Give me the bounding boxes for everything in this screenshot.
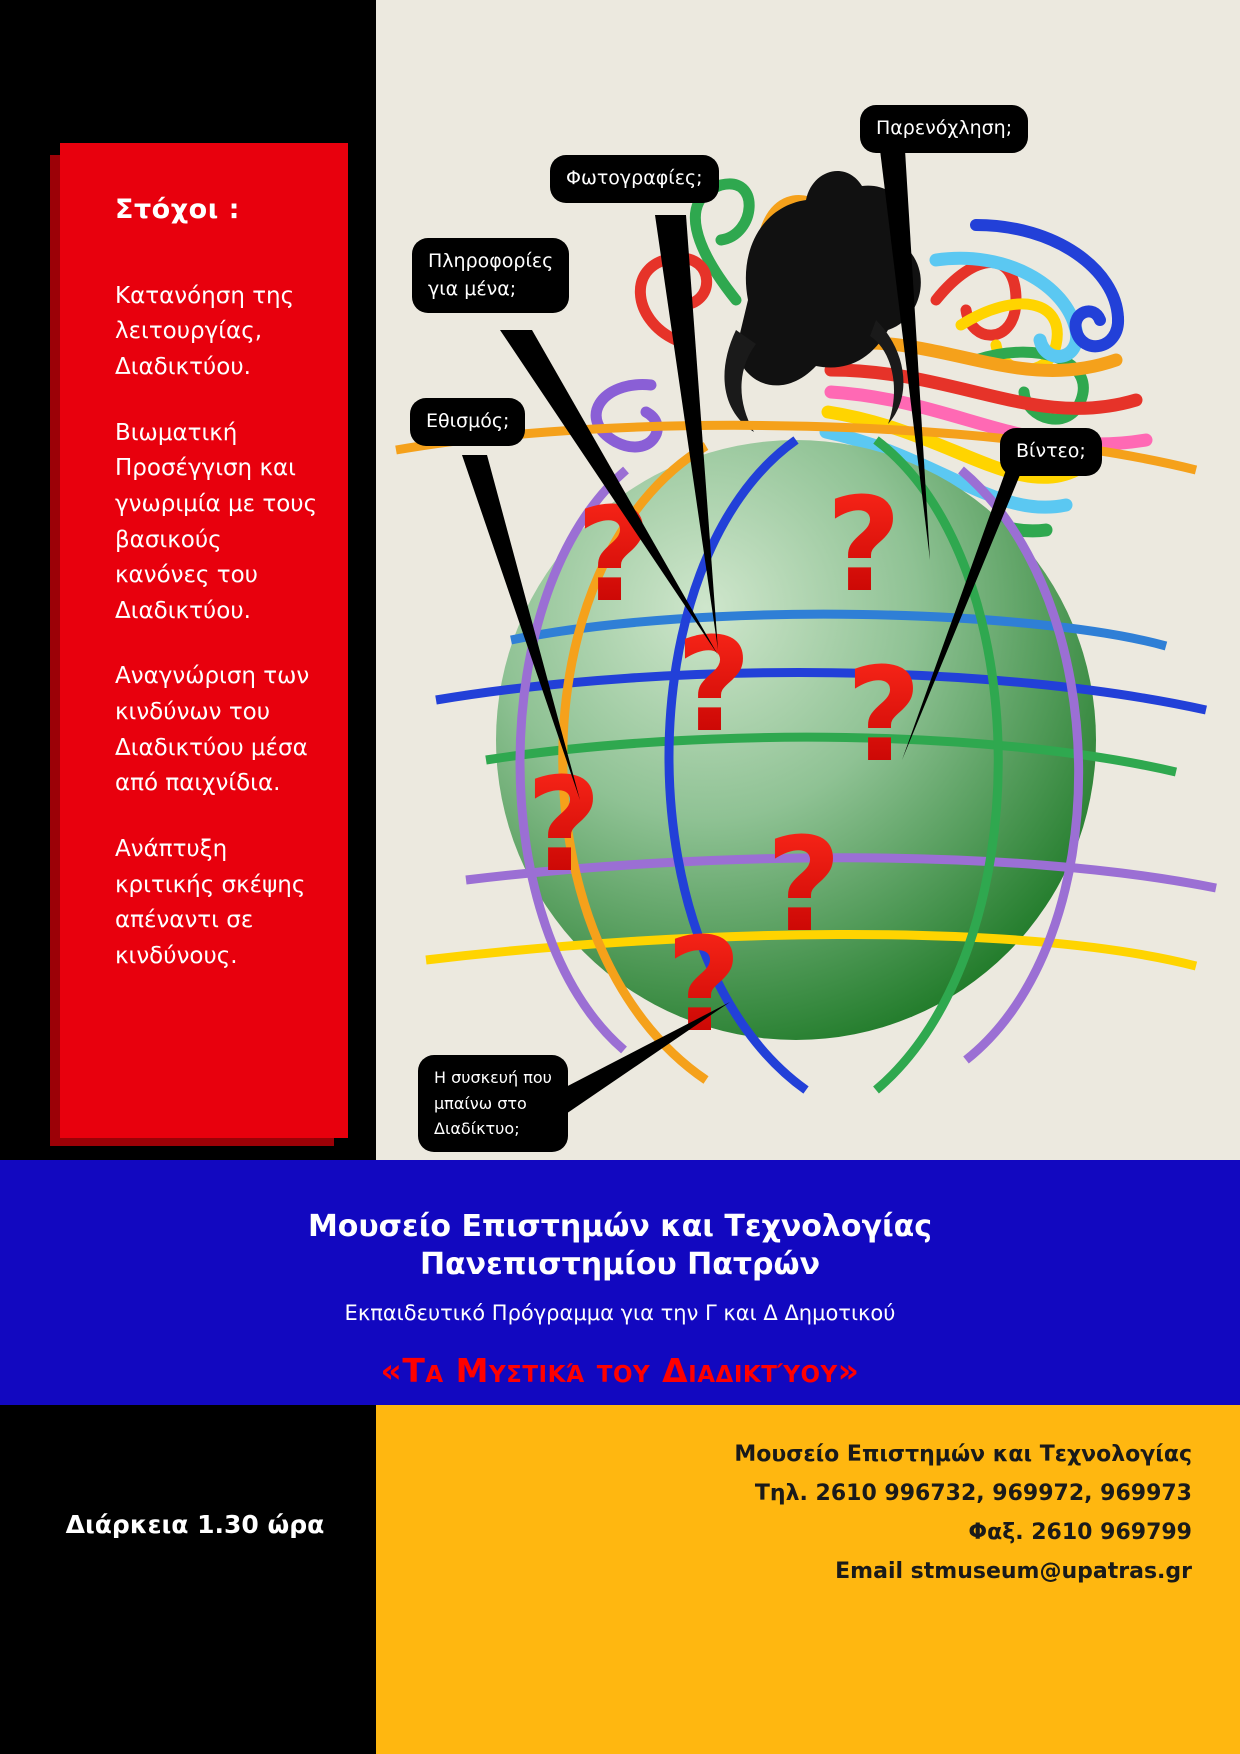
contact-line-museum: Μουσείο Επιστημών και Τεχνολογίας — [734, 1435, 1192, 1474]
program-subtitle: Εκπαιδευτικό Πρόγραμμα για την Γ και Δ Δ… — [0, 1301, 1240, 1325]
pointer-syskevi — [560, 1002, 730, 1118]
contact-line-phone: Τηλ. 2610 996732, 969972, 969973 — [734, 1474, 1192, 1513]
contact-panel: Μουσείο Επιστημών και Τεχνολογίας Τηλ. 2… — [376, 1405, 1240, 1754]
pointer-fotografies — [655, 215, 718, 650]
contact-line-email[interactable]: Email stmuseum@upatras.gr — [734, 1552, 1192, 1591]
poster: ? ? ? ? ? ? ? Παρενόχληση; Φωτογραφίες; … — [0, 0, 1240, 1754]
contact-block: Μουσείο Επιστημών και Τεχνολογίας Τηλ. 2… — [734, 1435, 1192, 1592]
organisation-line-2: Πανεπιστημίου Πατρών — [0, 1246, 1240, 1284]
duration-text: Διάρκεια 1.30 ώρα — [30, 1510, 360, 1539]
pointer-vinteo — [902, 470, 1022, 760]
bubble-parenochlisi[interactable]: Παρενόχληση; — [860, 105, 1028, 153]
organisation-line-1: Μουσείο Επιστημών και Τεχνολογίας — [0, 1160, 1240, 1246]
bubble-plirofories[interactable]: Πληροφορίες για μένα; — [412, 238, 569, 313]
organisation-band: Μουσείο Επιστημών και Τεχνολογίας Πανεπι… — [0, 1160, 1240, 1405]
bubble-vinteo[interactable]: Βίντεο; — [1000, 428, 1102, 476]
bubble-fotografies[interactable]: Φωτογραφίες; — [550, 155, 719, 203]
duration-panel: Διάρκεια 1.30 ώρα — [0, 1405, 376, 1754]
pointer-ethismos — [462, 455, 580, 800]
contact-line-fax: Φαξ. 2610 969799 — [734, 1513, 1192, 1552]
bubble-syskevi[interactable]: Η συσκευή που μπαίνω στο Διαδίκτυο; — [418, 1055, 568, 1152]
program-title: «Τα Μυστικά του Διαδικτύου» — [0, 1351, 1240, 1390]
bubble-ethismos[interactable]: Εθισμός; — [410, 398, 525, 446]
pointer-parenochlisi — [880, 150, 930, 560]
